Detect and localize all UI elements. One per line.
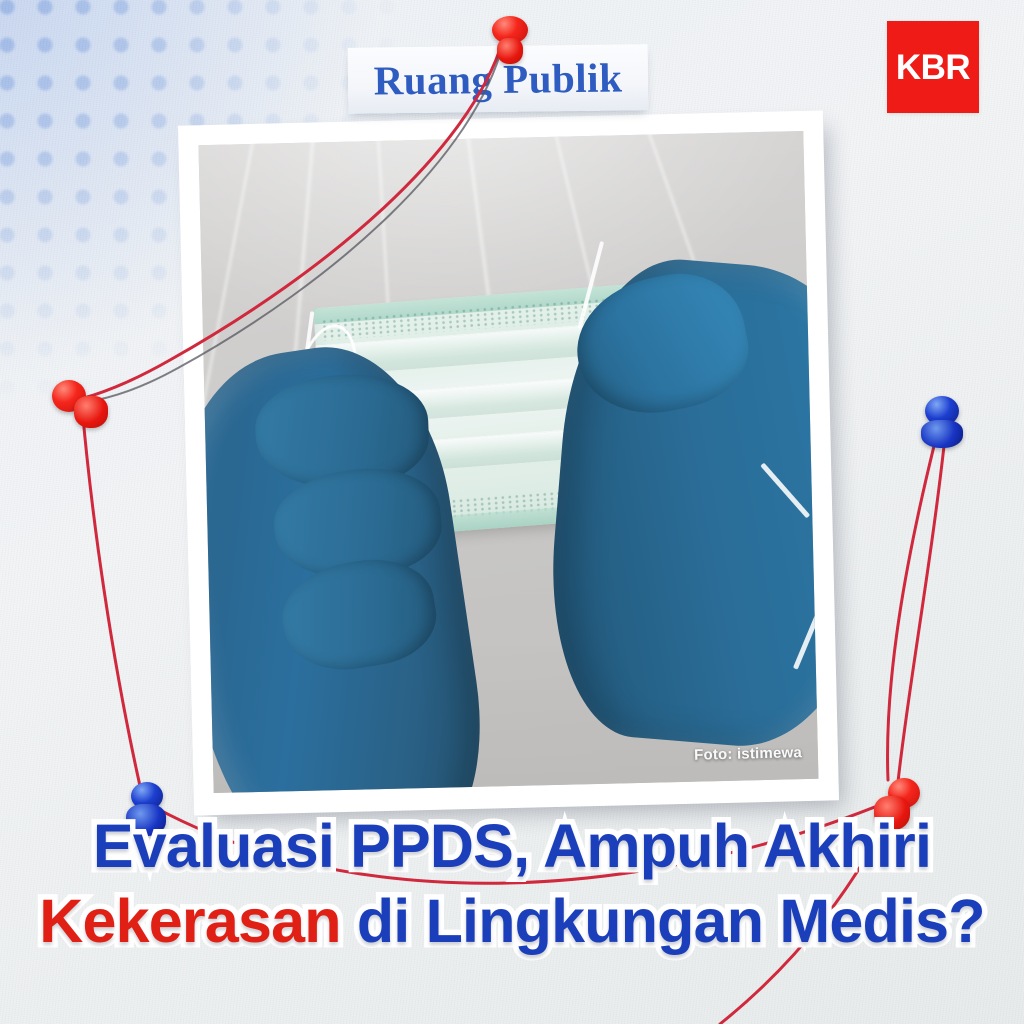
pushpin-head-icon <box>925 396 959 426</box>
headline-line-1: Evaluasi PPDS, Ampuh Akhiri <box>0 816 1024 877</box>
thread-bottomright-offscreen <box>720 800 896 1024</box>
pin-bottom-right-red[interactable] <box>874 778 932 838</box>
pushpin-neck-icon <box>874 796 910 830</box>
thread-right-to-bottomright-a <box>888 446 934 780</box>
pushpin-head-icon <box>888 778 920 808</box>
photo-scene: Foto: istimewa <box>198 131 818 793</box>
glove-finger <box>274 551 442 681</box>
program-name-banner: Ruang Publik <box>348 44 649 114</box>
thread-right-to-bottomright-b <box>898 446 944 782</box>
pin-right-blue[interactable] <box>918 396 966 466</box>
pushpin-neck-icon <box>74 396 108 428</box>
kbr-logo[interactable]: KBR <box>887 21 979 113</box>
polaroid-photo-frame: Foto: istimewa <box>178 110 839 815</box>
pushpin-head-icon <box>131 782 163 810</box>
headline: Evaluasi PPDS, Ampuh Akhiri Kekerasan di… <box>0 816 1024 952</box>
thread-left-to-bottomleft <box>82 406 140 786</box>
headline-line-2: Kekerasan di Lingkungan Medis? <box>0 891 1024 952</box>
headline-line-2-rest: di Lingkungan Medis? <box>341 887 985 955</box>
pushpin-head-icon <box>492 16 528 44</box>
kbr-logo-label: KBR <box>896 50 970 85</box>
social-media-poster: Foto: istimewa Ruang Publik KBR <box>0 0 1024 1024</box>
pushpin-head-icon <box>52 380 86 412</box>
pushpin-neck-icon <box>126 804 166 836</box>
photo-credit: Foto: istimewa <box>694 744 802 764</box>
program-name-label: Ruang Publik <box>373 53 622 104</box>
headline-highlight-word: Kekerasan <box>39 887 340 955</box>
photo-image: Foto: istimewa <box>198 131 818 793</box>
pin-bottom-left-blue[interactable] <box>122 782 174 856</box>
pushpin-neck-icon <box>921 420 963 448</box>
pin-left-red[interactable] <box>52 376 112 436</box>
